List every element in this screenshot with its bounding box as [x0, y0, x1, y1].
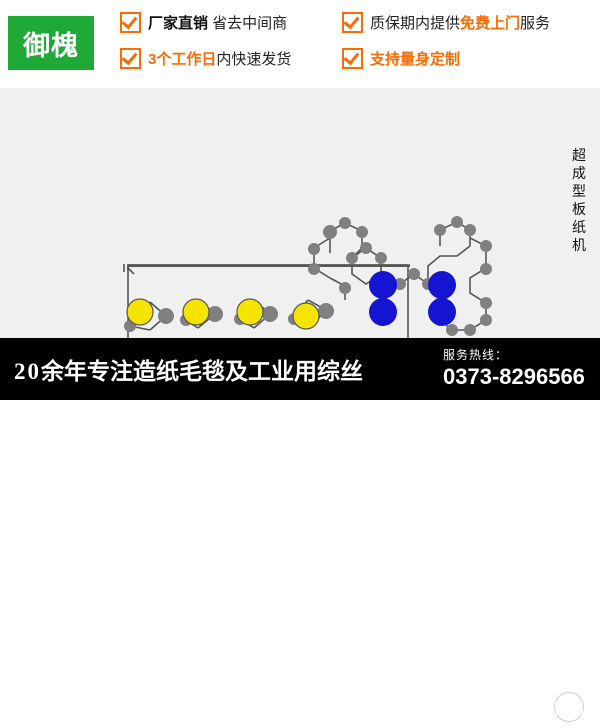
feature-text-3: 质保期内提供免费上门服务 — [370, 12, 550, 33]
feature-text-4: 支持量身定制 — [370, 48, 460, 69]
feature-highlight-3: 免费上门 — [460, 15, 520, 32]
feature-suffix-1: 省去中间商 — [208, 15, 287, 32]
feature-item-3: 质保期内提供免费上门服务 — [342, 12, 550, 33]
footer-logo-mark: 御槐 — [550, 688, 588, 726]
feature-highlight-1: 厂家直销 — [148, 15, 208, 32]
page-root: 御槐 厂家直销 省去中间商 3个工作日内快速发货 质保期内提供免费上门服务 支持… — [0, 0, 600, 400]
brand-logo-text: 御槐 — [23, 24, 79, 63]
footer-logo-badge: 御槐 — [548, 686, 590, 728]
feature-prefix-3: 质保期内提供 — [370, 15, 460, 32]
footer-bar: 20余年专注造纸毛毯及工业用综丝 服务热线： 0373-8296566 御槐 — [0, 338, 600, 400]
machine-title-vertical: 超 成 型 板 纸 机 — [568, 146, 590, 254]
check-icon — [342, 48, 363, 69]
footer-slogan-unit: 余年 — [41, 358, 87, 384]
machine-title-char-1: 超 — [568, 146, 590, 164]
feature-text-2: 3个工作日内快速发货 — [148, 48, 291, 69]
hotline-label: 服务热线： — [443, 346, 508, 363]
main-diagram-area: 超 成 型 板 纸 机 — [0, 88, 600, 338]
machine-title-char-6: 机 — [568, 236, 590, 254]
feature-highlight-4: 支持量身定制 — [370, 51, 460, 68]
feature-suffix-2: 内快速发货 — [216, 51, 291, 68]
feature-item-1: 厂家直销 省去中间商 — [120, 12, 287, 33]
machine-title-char-5: 纸 — [568, 218, 590, 236]
check-icon — [120, 48, 141, 69]
feature-suffix-3: 服务 — [520, 15, 550, 32]
machine-title-char-2: 成 — [568, 164, 590, 182]
check-icon — [342, 12, 363, 33]
hotline-number: 0373-8296566 — [443, 364, 585, 390]
brand-logo: 御槐 — [8, 16, 94, 70]
feature-item-4: 支持量身定制 — [342, 48, 460, 69]
footer-slogan: 20余年专注造纸毛毯及工业用综丝 — [14, 352, 363, 386]
paper-machine-schematic — [0, 88, 600, 338]
footer-slogan-rest: 专注造纸毛毯及工业用综丝 — [87, 358, 363, 384]
feature-highlight-2: 3个工作日 — [148, 51, 216, 68]
brand-logo-underline — [22, 64, 80, 66]
feature-item-2: 3个工作日内快速发货 — [120, 48, 291, 69]
check-icon — [120, 12, 141, 33]
header-banner: 御槐 厂家直销 省去中间商 3个工作日内快速发货 质保期内提供免费上门服务 支持… — [0, 0, 600, 88]
feature-text-1: 厂家直销 省去中间商 — [148, 12, 287, 33]
machine-title-char-3: 型 — [568, 182, 590, 200]
footer-slogan-number: 20 — [14, 359, 41, 384]
machine-title-char-4: 板 — [568, 200, 590, 218]
